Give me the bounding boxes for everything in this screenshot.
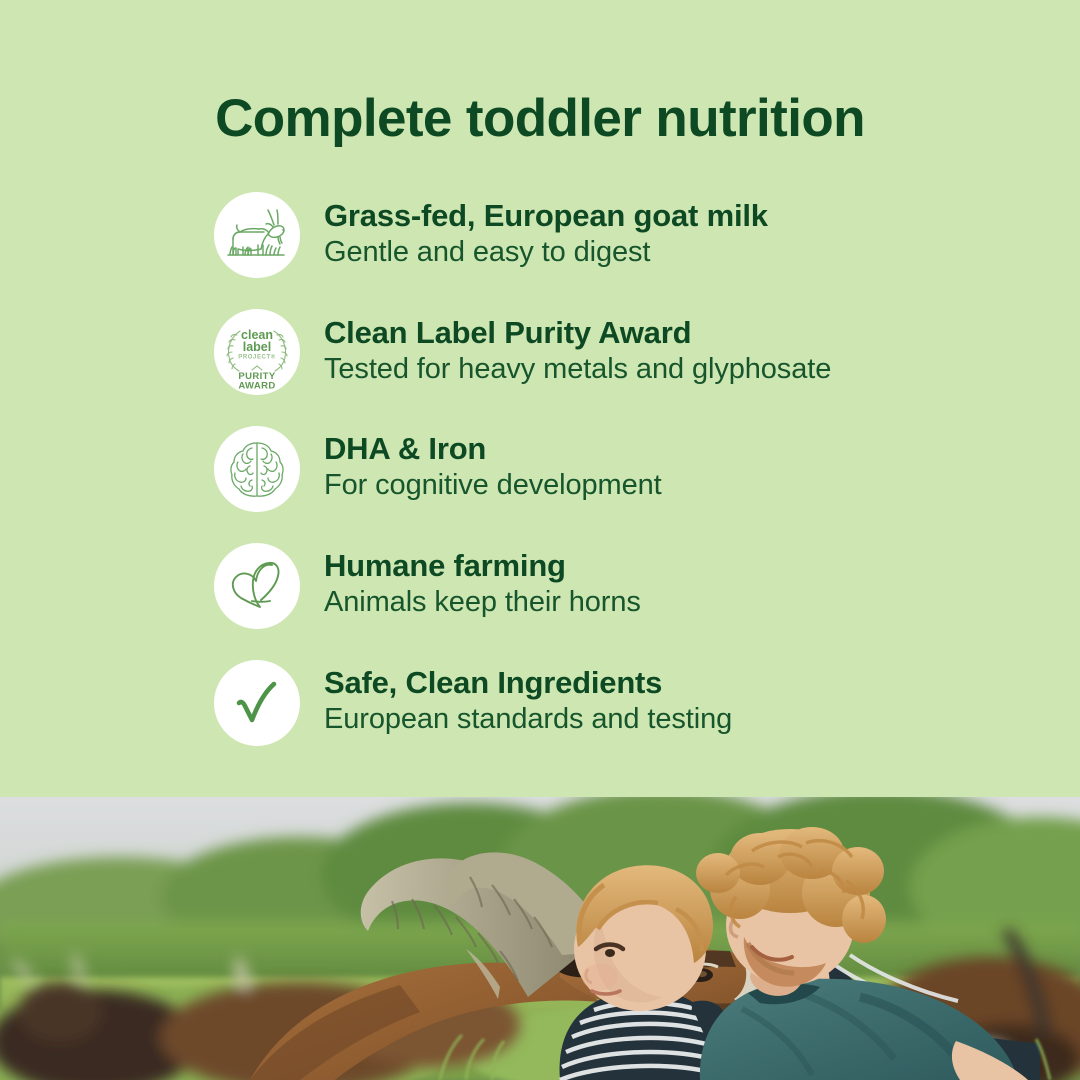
feature-title: Clean Label Purity Award: [324, 315, 1024, 352]
brain-icon: [214, 426, 300, 512]
feature-subtitle: Animals keep their horns: [324, 585, 1024, 620]
feature-text: Grass-fed, European goat milk Gentle and…: [324, 198, 1024, 269]
feature-subtitle: Gentle and easy to digest: [324, 235, 1024, 270]
clean-label-purity-award-icon: clean label PROJECT® PURITY AWARD: [214, 309, 300, 395]
badge-line-5: AWARD: [238, 381, 275, 392]
feature-text: DHA & Iron For cognitive development: [324, 431, 1024, 502]
feature-text: Clean Label Purity Award Tested for heav…: [324, 315, 1024, 386]
feature-title: Humane farming: [324, 548, 1024, 585]
feature-row: Grass-fed, European goat milk Gentle and…: [214, 192, 1034, 309]
page-title: Complete toddler nutrition: [0, 88, 1080, 149]
feature-title: Safe, Clean Ingredients: [324, 665, 1024, 702]
feature-title: Grass-fed, European goat milk: [324, 198, 1024, 235]
feature-row: Safe, Clean Ingredients European standar…: [214, 660, 1034, 777]
feature-row: DHA & Iron For cognitive development: [214, 426, 1034, 543]
lifestyle-photo: [0, 797, 1080, 1080]
feature-subtitle: For cognitive development: [324, 468, 1024, 503]
feature-subtitle: Tested for heavy metals and glyphosate: [324, 352, 1024, 387]
checkmark-icon: [214, 660, 300, 746]
feature-title: DHA & Iron: [324, 431, 1024, 468]
feature-text: Safe, Clean Ingredients European standar…: [324, 665, 1024, 736]
feature-subtitle: European standards and testing: [324, 702, 1024, 737]
feature-row: clean label PROJECT® PURITY AWARD Clean …: [214, 309, 1034, 426]
feature-row: Humane farming Animals keep their horns: [214, 543, 1034, 660]
badge-line-3: PROJECT®: [238, 354, 276, 361]
promo-graphic: Complete toddler nutrition: [0, 0, 1080, 1080]
feature-text: Humane farming Animals keep their horns: [324, 548, 1024, 619]
heart-icon: [214, 543, 300, 629]
badge-line-2: label: [243, 340, 272, 354]
info-panel: Complete toddler nutrition: [0, 0, 1080, 797]
goat-icon: [214, 192, 300, 278]
feature-list: Grass-fed, European goat milk Gentle and…: [214, 192, 1034, 777]
